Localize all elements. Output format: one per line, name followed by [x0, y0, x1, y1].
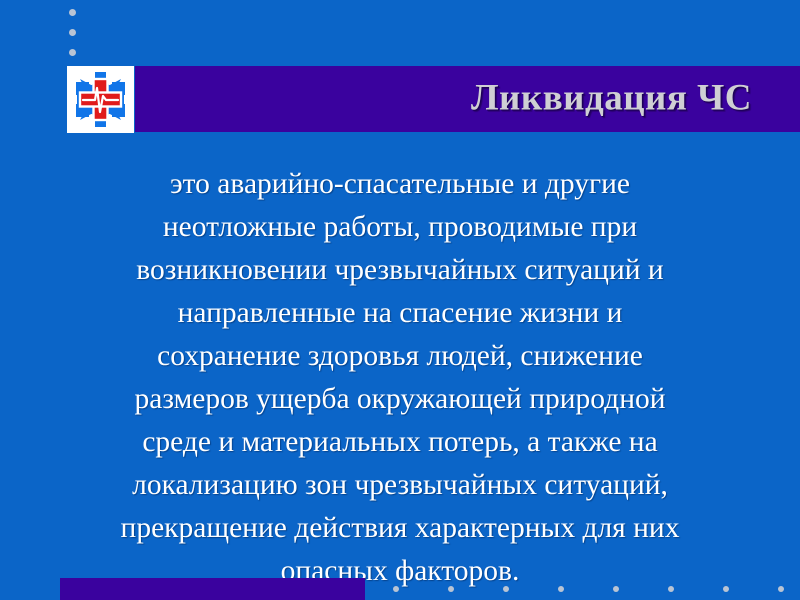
decorative-dot: [778, 586, 784, 592]
decorative-footer-dot-row: [393, 586, 783, 594]
decorative-dot: [393, 586, 399, 592]
decorative-dot: [69, 9, 76, 16]
slide-canvas: Ликвидация ЧС: [0, 0, 800, 600]
body-line: направленные на спасение жизни и: [64, 292, 736, 335]
decorative-dot: [69, 49, 76, 56]
body-line: прекращение действия характерных для них: [64, 507, 736, 550]
title-band: Ликвидация ЧС: [135, 66, 800, 132]
body-line: неотложные работы, проводимые при: [64, 206, 736, 249]
slide-title: Ликвидация ЧС: [471, 77, 752, 120]
decorative-dot: [69, 29, 76, 36]
body-line: возникновении чрезвычайных ситуаций и: [64, 249, 736, 292]
body-line: локализацию зон чрезвычайных ситуаций,: [64, 464, 736, 507]
decorative-dot: [668, 586, 674, 592]
decorative-dot: [448, 586, 454, 592]
footer-band: [60, 578, 365, 600]
slide-body-text: это аварийно-спасательные и другие неотл…: [64, 163, 736, 593]
body-line: размеров ущерба окружающей природной: [64, 378, 736, 421]
emergency-rescue-service-emblem: [67, 66, 134, 133]
body-line: среде и материальных потерь, а также на: [64, 421, 736, 464]
body-line: сохранение здоровья людей, снижение: [64, 335, 736, 378]
decorative-dot: [723, 586, 729, 592]
decorative-dot: [613, 586, 619, 592]
body-line: это аварийно-спасательные и другие: [64, 163, 736, 206]
decorative-dot-column: [69, 9, 79, 65]
decorative-dot: [503, 586, 509, 592]
decorative-dot: [558, 586, 564, 592]
